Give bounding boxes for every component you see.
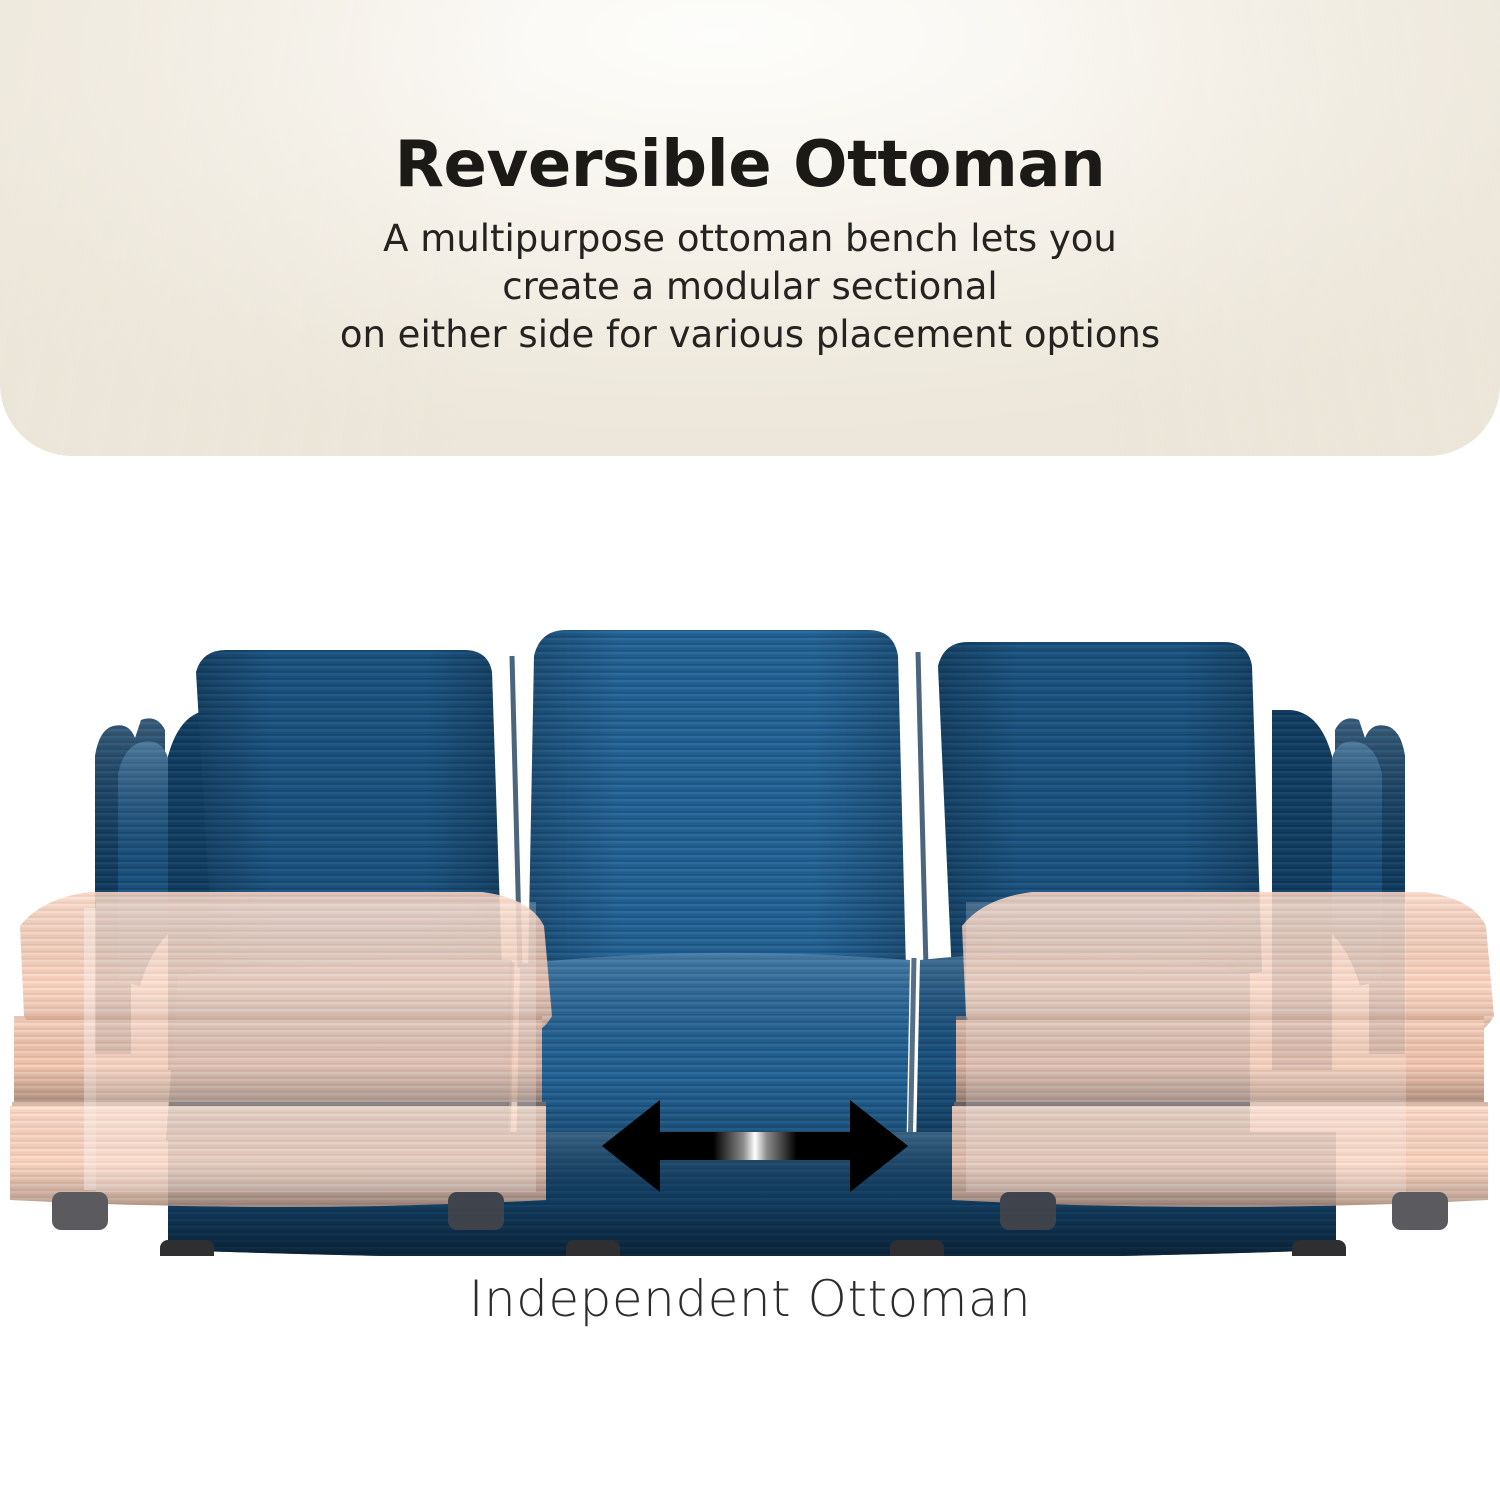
product-caption: Independent Ottoman xyxy=(0,1270,1500,1328)
sofa-foot-right xyxy=(890,1240,944,1256)
header-banner-panel: Reversible Ottoman A multipurpose ottoma… xyxy=(0,0,1500,456)
sofa-foot-left xyxy=(566,1240,620,1256)
ottoman-right-foot-front-right xyxy=(1392,1192,1448,1230)
ottoman-left-ghost-edge xyxy=(84,908,96,1190)
arrow-shaft xyxy=(660,1132,850,1160)
ottoman-left-ghost-plate xyxy=(96,902,536,1192)
ottoman-left-foot-front-left xyxy=(52,1192,108,1230)
back-seam-right xyxy=(918,652,926,968)
subtitle-line-1: A multipurpose ottoman bench lets you xyxy=(0,215,1500,263)
sofa-foot-far-right xyxy=(1292,1240,1346,1256)
seat-seam-right xyxy=(910,958,914,1158)
sofa-foot-far-left xyxy=(160,1240,214,1256)
back-cushion-middle-shade xyxy=(528,630,906,979)
sectional-sofa-illustration xyxy=(0,456,1500,1256)
ottoman-left-foot-front-right xyxy=(448,1192,504,1230)
ottoman-right-ghost-plate xyxy=(966,902,1406,1192)
ottoman-right-foot-front-left xyxy=(1000,1192,1056,1230)
page-title: Reversible Ottoman xyxy=(0,131,1500,200)
subtitle-line-2: create a modular sectional xyxy=(0,263,1500,311)
product-photo-stage xyxy=(0,456,1500,1256)
page-subtitle: A multipurpose ottoman bench lets you cr… xyxy=(0,215,1500,359)
subtitle-line-3: on either side for various placement opt… xyxy=(0,311,1500,359)
